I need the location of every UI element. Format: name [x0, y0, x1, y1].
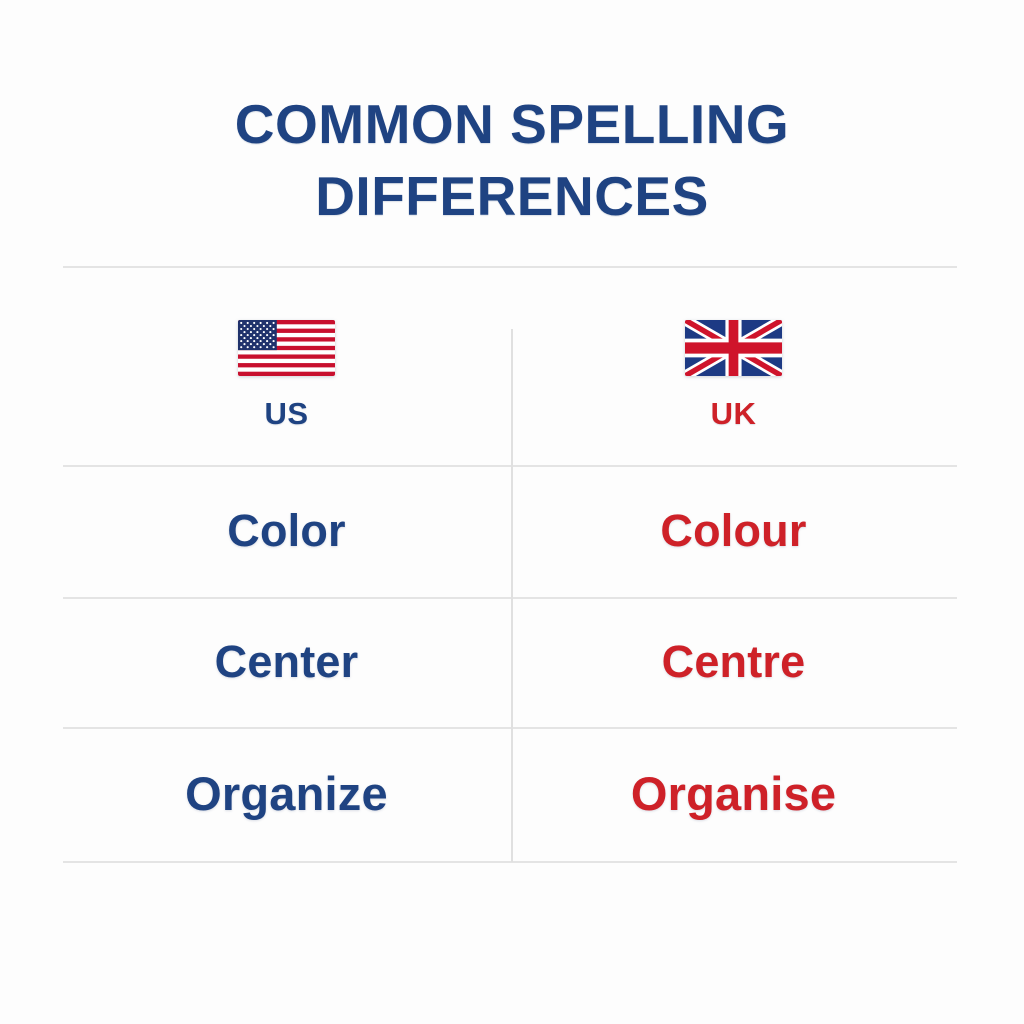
- page-title: COMMON SPELLING DIFFERENCES: [0, 88, 1024, 232]
- word-us: Color: [227, 505, 346, 557]
- table-cell-us: Center: [63, 597, 510, 727]
- spelling-differences-infographic: COMMON SPELLING DIFFERENCES: [0, 0, 1024, 1024]
- word-uk: Centre: [662, 636, 806, 688]
- column-header-uk-label: UK: [711, 396, 757, 432]
- table-cell-uk: Colour: [510, 465, 957, 597]
- column-header-us-label: US: [264, 396, 308, 432]
- word-us: Organize: [185, 768, 388, 820]
- word-us: Center: [215, 636, 359, 688]
- table-divider-bottom: [63, 861, 957, 863]
- table-header-row: US UK: [63, 266, 957, 465]
- column-header-uk: UK: [510, 266, 957, 465]
- table-row: Organize Organise: [63, 727, 957, 861]
- uk-flag-icon: [685, 320, 782, 376]
- word-uk: Organise: [631, 768, 836, 820]
- table-row: Color Colour: [63, 465, 957, 597]
- table-row: Center Centre: [63, 597, 957, 727]
- table-cell-uk: Organise: [510, 727, 957, 861]
- comparison-table: US UK: [63, 266, 957, 864]
- table-cell-us: Color: [63, 465, 510, 597]
- column-header-us: US: [63, 266, 510, 465]
- table-cell-uk: Centre: [510, 597, 957, 727]
- us-flag-icon: [238, 320, 335, 376]
- page-title-line-2: DIFFERENCES: [0, 160, 1024, 232]
- page-title-line-1: COMMON SPELLING: [0, 88, 1024, 160]
- table-cell-us: Organize: [63, 727, 510, 861]
- word-uk: Colour: [660, 505, 806, 557]
